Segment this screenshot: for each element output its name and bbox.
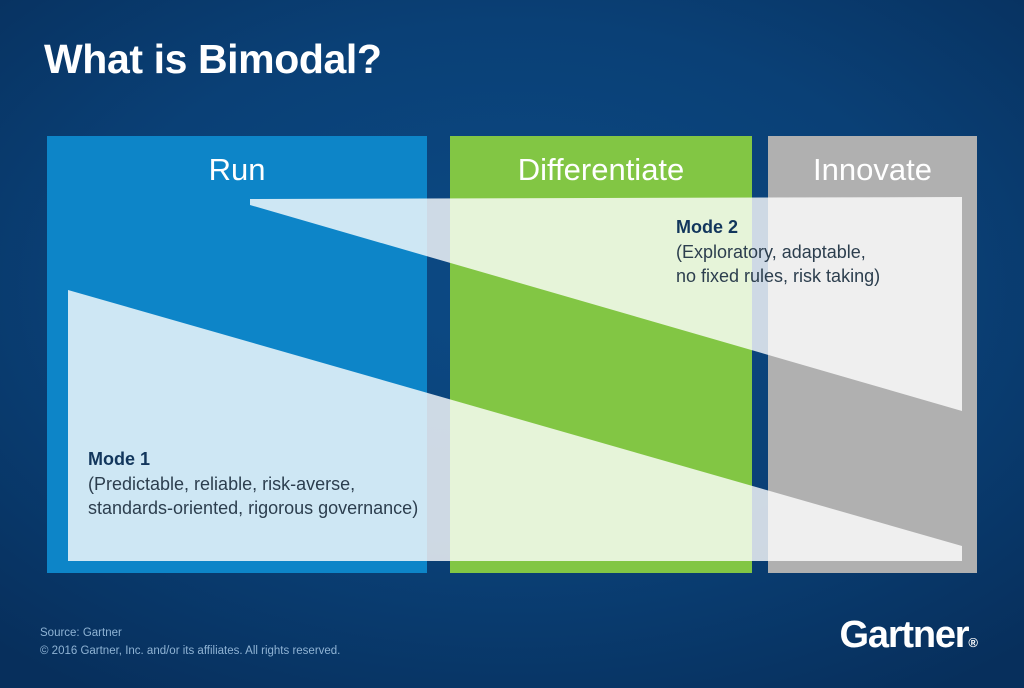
mode-2-line-2: no fixed rules, risk taking) bbox=[676, 265, 880, 289]
source-line: Source: Gartner bbox=[40, 625, 340, 643]
mode-1-line-2: standards-oriented, rigorous governance) bbox=[88, 497, 418, 521]
column-differentiate-label: Differentiate bbox=[450, 152, 752, 188]
copyright-line: © 2016 Gartner, Inc. and/or its affiliat… bbox=[40, 643, 340, 661]
page-title: What is Bimodal? bbox=[44, 36, 382, 83]
mode-2-callout: Mode 2 (Exploratory, adaptable, no fixed… bbox=[676, 216, 880, 288]
column-run-label: Run bbox=[47, 152, 427, 188]
gartner-logo-text: Gartner bbox=[840, 614, 969, 656]
slide-canvas: What is Bimodal? Run Differentiate Innov… bbox=[0, 0, 1024, 688]
footer-attribution: Source: Gartner © 2016 Gartner, Inc. and… bbox=[40, 625, 340, 661]
column-differentiate[interactable]: Differentiate bbox=[450, 136, 752, 573]
registered-trademark-icon: ® bbox=[968, 635, 978, 650]
column-innovate-label: Innovate bbox=[768, 152, 977, 188]
mode-1-callout: Mode 1 (Predictable, reliable, risk-aver… bbox=[88, 448, 418, 520]
column-innovate[interactable]: Innovate bbox=[768, 136, 977, 573]
mode-1-title: Mode 1 bbox=[88, 448, 418, 472]
mode-2-title: Mode 2 bbox=[676, 216, 880, 240]
gartner-logo: Gartner® bbox=[840, 614, 978, 657]
mode-2-line-1: (Exploratory, adaptable, bbox=[676, 241, 880, 265]
mode-1-line-1: (Predictable, reliable, risk-averse, bbox=[88, 473, 418, 497]
